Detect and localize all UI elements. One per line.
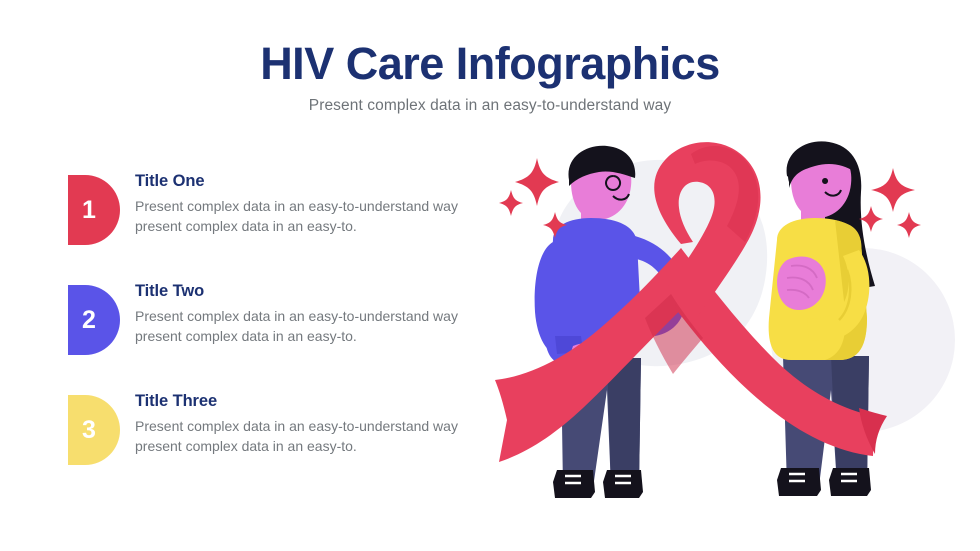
item-title: Title Two xyxy=(135,282,480,301)
item-number-label: 3 xyxy=(82,416,96,445)
item-description: Present complex data in an easy-to-under… xyxy=(135,197,480,237)
item-description: Present complex data in an easy-to-under… xyxy=(135,417,480,457)
item-title: Title Three xyxy=(135,392,480,411)
hiv-ribbon-illustration xyxy=(495,140,965,520)
female-eye xyxy=(822,178,828,184)
slide-canvas: HIV Care Infographics Present complex da… xyxy=(0,0,980,551)
sparkle-stars-right xyxy=(859,168,921,238)
item-number-label: 1 xyxy=(82,196,96,225)
sparkle-large-icon xyxy=(515,158,559,206)
item-number-badge-3: 3 xyxy=(68,395,120,465)
sparkle-large-icon xyxy=(871,168,915,212)
list-item[interactable]: 2 Title Two Present complex data in an e… xyxy=(68,282,488,392)
list-item[interactable]: 3 Title Three Present complex data in an… xyxy=(68,392,488,502)
sparkle-small-icon xyxy=(859,206,883,232)
item-text-block: Title Three Present complex data in an e… xyxy=(135,392,480,457)
item-title: Title One xyxy=(135,172,480,191)
item-description: Present complex data in an easy-to-under… xyxy=(135,307,480,347)
list-item[interactable]: 1 Title One Present complex data in an e… xyxy=(68,172,488,282)
page-title: HIV Care Infographics xyxy=(0,40,980,87)
item-text-block: Title One Present complex data in an eas… xyxy=(135,172,480,237)
item-number-badge-2: 2 xyxy=(68,285,120,355)
sparkle-small-icon xyxy=(499,190,523,216)
item-number-label: 2 xyxy=(82,306,96,335)
item-text-block: Title Two Present complex data in an eas… xyxy=(135,282,480,347)
item-number-badge-1: 1 xyxy=(68,175,120,245)
page-subtitle: Present complex data in an easy-to-under… xyxy=(0,97,980,115)
header: HIV Care Infographics Present complex da… xyxy=(0,40,980,115)
infographic-item-list: 1 Title One Present complex data in an e… xyxy=(68,172,488,502)
sparkle-stars-left xyxy=(499,158,567,238)
sparkle-tiny-icon xyxy=(897,212,921,238)
